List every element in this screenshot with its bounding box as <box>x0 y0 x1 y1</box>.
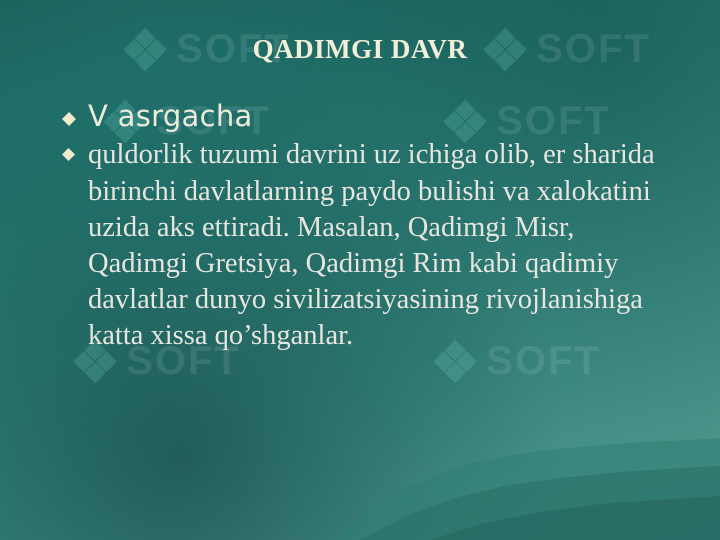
slide-title: QADIMGI DAVR <box>0 34 720 65</box>
bullet-text: V asrgacha <box>88 100 253 133</box>
diamond-bullet-icon <box>62 100 88 126</box>
slide-canvas: ❖SOFT ❖SOFT ❖SOFT ❖SOFT ❖SOFT ❖SOFT QADI… <box>0 0 720 540</box>
bullet-text: quldorlik tuzumi davrini uz ichiga olib,… <box>88 137 662 354</box>
bullet-item: quldorlik tuzumi davrini uz ichiga olib,… <box>62 137 662 354</box>
slide-body: V asrgacha quldorlik tuzumi davrini uz i… <box>62 100 662 358</box>
diamond-bullet-icon <box>62 137 88 161</box>
bullet-item: V asrgacha <box>62 100 662 133</box>
mountain-silhouette-decoration <box>0 390 720 540</box>
